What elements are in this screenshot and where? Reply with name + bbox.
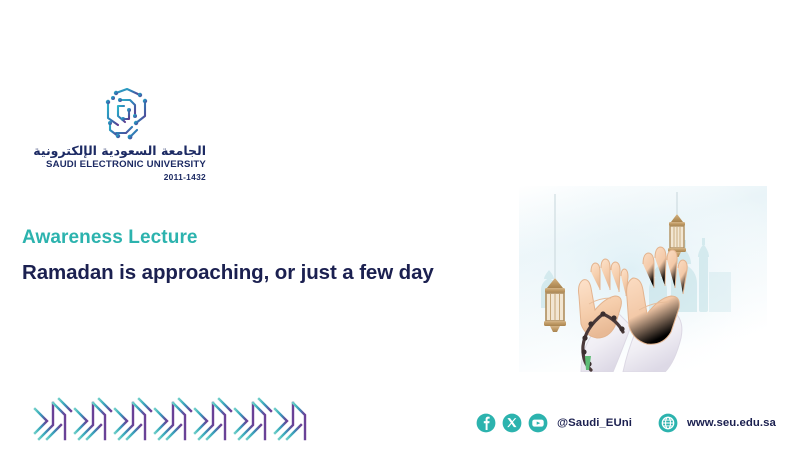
website-url[interactable]: www.seu.edu.sa: [687, 417, 776, 429]
page-title: Ramadan is approaching, or just a few da…: [22, 261, 492, 285]
headline-block: Awareness Lecture Ramadan is approaching…: [22, 228, 492, 284]
circuit-geometric-pattern-band: [33, 393, 318, 443]
footer-contacts: @Saudi_EUni www.seu.edu.sa: [476, 409, 776, 437]
x-twitter-icon[interactable]: [502, 413, 522, 433]
university-logo: الجامعة السعودية الإلكترونية SAUDI ELECT…: [12, 86, 212, 182]
logo-founding-year: 2011-1432: [12, 172, 212, 182]
ramadan-praying-hands-illustration: [519, 186, 767, 372]
social-icons-group: [476, 413, 548, 433]
logo-english-name: SAUDI ELECTRONIC UNIVERSITY: [12, 159, 212, 170]
facebook-icon[interactable]: [476, 413, 496, 433]
saudi-electronic-university-hexagon-circuit-logo-icon: [96, 86, 158, 142]
logo-arabic-name: الجامعة السعودية الإلكترونية: [12, 144, 212, 158]
social-handle[interactable]: @Saudi_EUni: [557, 417, 632, 429]
website-group[interactable]: www.seu.edu.sa: [658, 413, 776, 433]
lecture-eyebrow-label: Awareness Lecture: [22, 228, 492, 249]
youtube-icon[interactable]: [528, 413, 548, 433]
globe-icon[interactable]: [658, 413, 678, 433]
slide-canvas: الجامعة السعودية الإلكترونية SAUDI ELECT…: [0, 0, 800, 450]
